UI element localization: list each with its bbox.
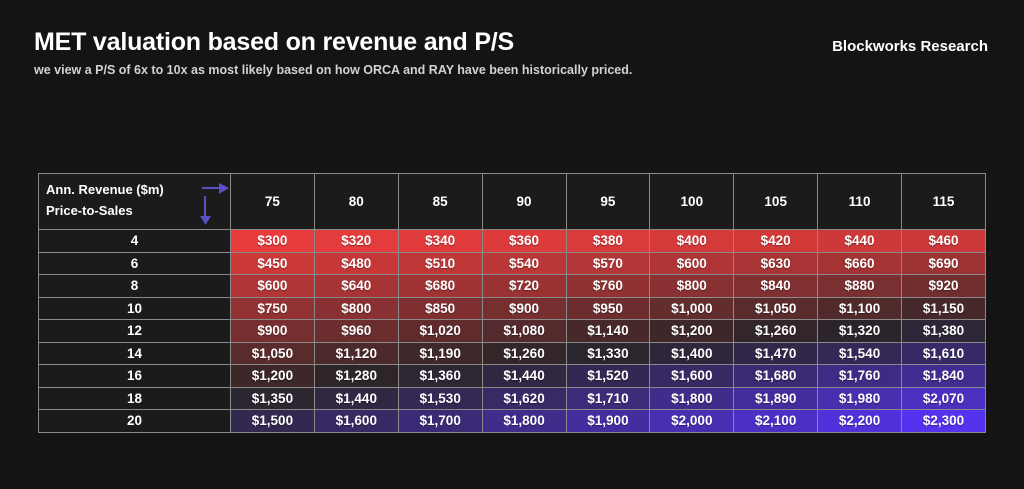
matrix-cell: $1,500 <box>231 410 315 433</box>
matrix-cell: $1,330 <box>566 342 650 365</box>
matrix-cell: $1,200 <box>231 365 315 388</box>
matrix-row-header: 6 <box>39 252 231 275</box>
matrix-cell: $1,540 <box>818 342 902 365</box>
matrix-row-header: 14 <box>39 342 231 365</box>
matrix-cell: $2,200 <box>818 410 902 433</box>
matrix-cell: $800 <box>650 275 734 298</box>
matrix-cell: $1,440 <box>482 365 566 388</box>
matrix-cell: $1,000 <box>650 297 734 320</box>
matrix-row-header: 8 <box>39 275 231 298</box>
matrix-cell: $1,840 <box>902 365 986 388</box>
matrix-cell: $900 <box>231 320 315 343</box>
matrix-cell: $630 <box>734 252 818 275</box>
matrix-row-header: 16 <box>39 365 231 388</box>
arrow-down-icon <box>199 196 213 226</box>
matrix-cell: $440 <box>818 230 902 253</box>
matrix-cell: $1,190 <box>398 342 482 365</box>
axis-label-price-to-sales: Price-to-Sales <box>46 203 133 218</box>
matrix-cell: $1,440 <box>314 387 398 410</box>
matrix-cell: $540 <box>482 252 566 275</box>
matrix-col-header: 100 <box>650 174 734 230</box>
matrix-cell: $1,260 <box>734 320 818 343</box>
matrix-cell: $1,900 <box>566 410 650 433</box>
matrix-cell: $320 <box>314 230 398 253</box>
axis-label-revenue: Ann. Revenue ($m) <box>46 182 164 197</box>
matrix-corner-cell: Ann. Revenue ($m) Price-to-Sales <box>39 174 231 230</box>
matrix-cell: $2,300 <box>902 410 986 433</box>
matrix-cell: $1,350 <box>231 387 315 410</box>
matrix-row: 4$300$320$340$360$380$400$420$440$460 <box>39 230 986 253</box>
matrix-cell: $1,980 <box>818 387 902 410</box>
page-header: MET valuation based on revenue and P/S w… <box>0 0 1024 110</box>
matrix-cell: $1,470 <box>734 342 818 365</box>
valuation-matrix-wrapper: Ann. Revenue ($m) Price-to-Sales 7580859… <box>38 173 986 433</box>
page-title: MET valuation based on revenue and P/S <box>34 28 514 57</box>
matrix-cell: $1,280 <box>314 365 398 388</box>
matrix-col-header: 90 <box>482 174 566 230</box>
matrix-row: 20$1,500$1,600$1,700$1,800$1,900$2,000$2… <box>39 410 986 433</box>
matrix-cell: $400 <box>650 230 734 253</box>
matrix-cell: $800 <box>314 297 398 320</box>
matrix-cell: $1,050 <box>231 342 315 365</box>
matrix-cell: $2,000 <box>650 410 734 433</box>
matrix-row-header: 20 <box>39 410 231 433</box>
matrix-col-header: 105 <box>734 174 818 230</box>
matrix-cell: $690 <box>902 252 986 275</box>
arrow-right-icon <box>202 183 230 197</box>
matrix-cell: $2,100 <box>734 410 818 433</box>
matrix-cell: $1,120 <box>314 342 398 365</box>
matrix-row: 10$750$800$850$900$950$1,000$1,050$1,100… <box>39 297 986 320</box>
matrix-cell: $1,800 <box>482 410 566 433</box>
matrix-cell: $720 <box>482 275 566 298</box>
matrix-cell: $450 <box>231 252 315 275</box>
matrix-row: 6$450$480$510$540$570$600$630$660$690 <box>39 252 986 275</box>
matrix-col-header: 95 <box>566 174 650 230</box>
valuation-matrix-table: Ann. Revenue ($m) Price-to-Sales 7580859… <box>38 173 986 433</box>
matrix-row: 18$1,350$1,440$1,530$1,620$1,710$1,800$1… <box>39 387 986 410</box>
matrix-cell: $1,520 <box>566 365 650 388</box>
matrix-cell: $750 <box>231 297 315 320</box>
matrix-col-header: 110 <box>818 174 902 230</box>
matrix-row-header: 4 <box>39 230 231 253</box>
matrix-row: 8$600$640$680$720$760$800$840$880$920 <box>39 275 986 298</box>
matrix-row: 16$1,200$1,280$1,360$1,440$1,520$1,600$1… <box>39 365 986 388</box>
matrix-cell: $950 <box>566 297 650 320</box>
page-subtitle: we view a P/S of 6x to 10x as most likel… <box>34 63 632 77</box>
matrix-cell: $2,070 <box>902 387 986 410</box>
matrix-cell: $1,080 <box>482 320 566 343</box>
matrix-row: 12$900$960$1,020$1,080$1,140$1,200$1,260… <box>39 320 986 343</box>
matrix-cell: $850 <box>398 297 482 320</box>
matrix-cell: $600 <box>231 275 315 298</box>
matrix-col-header: 115 <box>902 174 986 230</box>
matrix-cell: $1,800 <box>650 387 734 410</box>
matrix-cell: $420 <box>734 230 818 253</box>
matrix-cell: $1,200 <box>650 320 734 343</box>
matrix-cell: $1,380 <box>902 320 986 343</box>
matrix-col-header: 85 <box>398 174 482 230</box>
matrix-cell: $900 <box>482 297 566 320</box>
matrix-cell: $380 <box>566 230 650 253</box>
matrix-row-header: 10 <box>39 297 231 320</box>
matrix-cell: $1,700 <box>398 410 482 433</box>
matrix-row-header: 18 <box>39 387 231 410</box>
matrix-cell: $840 <box>734 275 818 298</box>
matrix-cell: $1,890 <box>734 387 818 410</box>
matrix-cell: $680 <box>398 275 482 298</box>
matrix-cell: $960 <box>314 320 398 343</box>
matrix-cell: $360 <box>482 230 566 253</box>
matrix-row: 14$1,050$1,120$1,190$1,260$1,330$1,400$1… <box>39 342 986 365</box>
matrix-header-row: Ann. Revenue ($m) Price-to-Sales 7580859… <box>39 174 986 230</box>
brand-label: Blockworks Research <box>832 38 988 55</box>
matrix-cell: $1,150 <box>902 297 986 320</box>
matrix-col-header: 80 <box>314 174 398 230</box>
matrix-cell: $570 <box>566 252 650 275</box>
matrix-cell: $1,600 <box>314 410 398 433</box>
matrix-body: 4$300$320$340$360$380$400$420$440$4606$4… <box>39 230 986 433</box>
matrix-cell: $480 <box>314 252 398 275</box>
matrix-cell: $510 <box>398 252 482 275</box>
matrix-col-header: 75 <box>231 174 315 230</box>
matrix-cell: $460 <box>902 230 986 253</box>
matrix-cell: $1,600 <box>650 365 734 388</box>
matrix-cell: $300 <box>231 230 315 253</box>
matrix-cell: $760 <box>566 275 650 298</box>
matrix-cell: $1,680 <box>734 365 818 388</box>
matrix-cell: $1,140 <box>566 320 650 343</box>
matrix-cell: $1,020 <box>398 320 482 343</box>
matrix-cell: $1,710 <box>566 387 650 410</box>
matrix-cell: $1,530 <box>398 387 482 410</box>
matrix-cell: $920 <box>902 275 986 298</box>
matrix-cell: $1,620 <box>482 387 566 410</box>
matrix-cell: $1,260 <box>482 342 566 365</box>
matrix-row-header: 12 <box>39 320 231 343</box>
matrix-cell: $1,400 <box>650 342 734 365</box>
matrix-cell: $880 <box>818 275 902 298</box>
matrix-header: Ann. Revenue ($m) Price-to-Sales 7580859… <box>39 174 986 230</box>
matrix-cell: $660 <box>818 252 902 275</box>
matrix-cell: $600 <box>650 252 734 275</box>
matrix-cell: $1,360 <box>398 365 482 388</box>
matrix-cell: $1,610 <box>902 342 986 365</box>
matrix-cell: $340 <box>398 230 482 253</box>
matrix-cell: $640 <box>314 275 398 298</box>
matrix-cell: $1,760 <box>818 365 902 388</box>
matrix-cell: $1,320 <box>818 320 902 343</box>
matrix-cell: $1,100 <box>818 297 902 320</box>
matrix-cell: $1,050 <box>734 297 818 320</box>
